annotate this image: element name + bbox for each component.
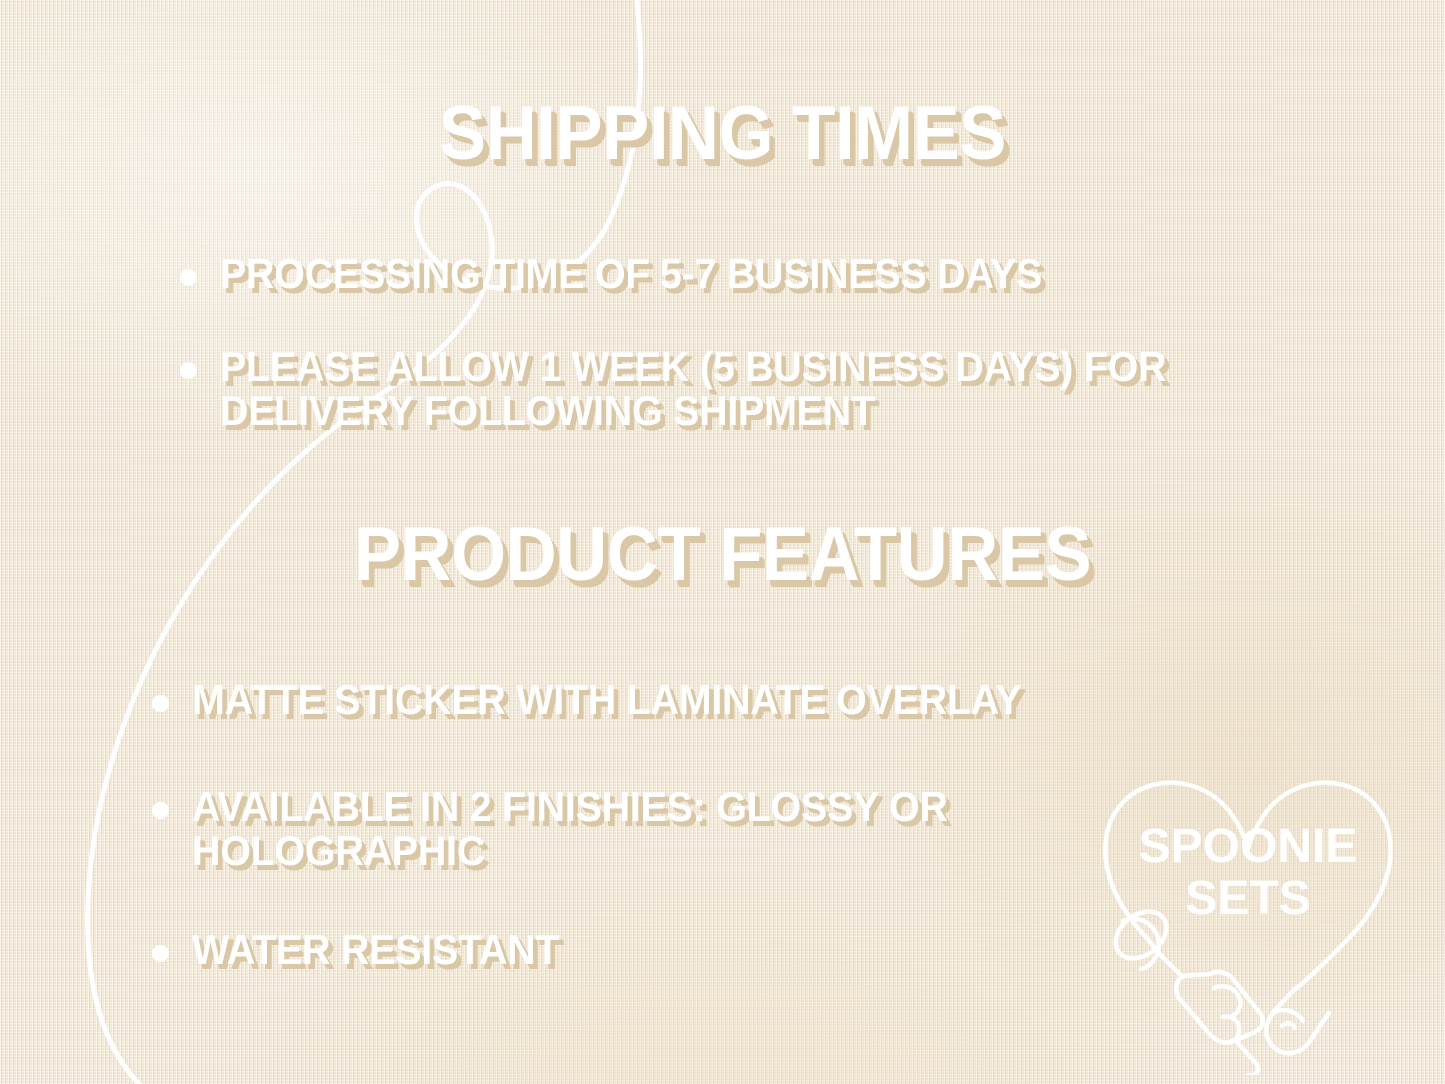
- list-item: MATTE STICKER WITH LAMINATE OVERLAY: [150, 678, 1230, 721]
- list-item-label: AVAILABLE IN 2 FINISHIES: GLOSSY OR HOLO…: [192, 785, 1055, 872]
- page-title-product-features: PRODUCT FEATURES: [51, 517, 1395, 593]
- shipping-times-bullet-list: PROCESSING TIME OF 5-7 BUSINESS DAYS PLE…: [178, 252, 1358, 482]
- poster-canvas: SHIPPING TIMES PROCESSING TIME OF 5-7 BU…: [0, 0, 1445, 1084]
- list-item: PLEASE ALLOW 1 WEEK (5 BUSINESS DAYS) FO…: [178, 345, 1378, 432]
- poster-content: SHIPPING TIMES PROCESSING TIME OF 5-7 BU…: [0, 0, 1445, 1084]
- list-item-label: WATER RESISTANT: [192, 928, 559, 971]
- brand-logo: SPOONIE SETS: [1083, 745, 1413, 1075]
- list-item: AVAILABLE IN 2 FINISHIES: GLOSSY OR HOLO…: [150, 785, 1110, 872]
- page-title-shipping-times: SHIPPING TIMES: [51, 96, 1395, 172]
- pill-capsule-icon: [1267, 988, 1329, 1053]
- list-item: WATER RESISTANT: [150, 928, 1050, 971]
- logo-text-line-1: SPOONIE: [1083, 823, 1413, 871]
- hand-holding-spoon-icon: [1176, 972, 1263, 1075]
- list-item-label: MATTE STICKER WITH LAMINATE OVERLAY: [192, 678, 1021, 721]
- product-features-bullet-list: MATTE STICKER WITH LAMINATE OVERLAY AVAI…: [150, 678, 1150, 971]
- list-item-label: PROCESSING TIME OF 5-7 BUSINESS DAYS: [220, 252, 1042, 295]
- list-item: PROCESSING TIME OF 5-7 BUSINESS DAYS: [178, 252, 1358, 295]
- logo-text-line-2: SETS: [1083, 875, 1413, 923]
- list-item-label: PLEASE ALLOW 1 WEEK (5 BUSINESS DAYS) FO…: [220, 345, 1309, 432]
